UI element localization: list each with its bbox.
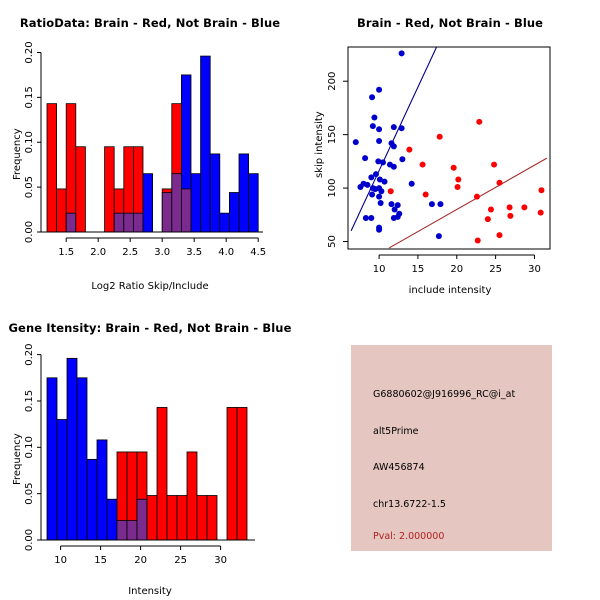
scatter-point [436, 233, 442, 239]
histogram-bar [197, 496, 207, 540]
histogram-bar-overlap [133, 213, 143, 232]
histogram-bar [47, 378, 57, 540]
scatter-point [357, 184, 363, 190]
histogram-bar [57, 420, 67, 540]
y-tick-label: 200 [327, 72, 338, 91]
scatter-point [507, 213, 513, 219]
scatter-point [391, 164, 397, 170]
scatter-panel: Brain - Red, Not Brain - Blue include in… [300, 0, 600, 300]
histogram-bar [87, 459, 97, 540]
histogram-bar [57, 189, 67, 232]
x-tick-label: 1.5 [58, 247, 74, 258]
scatter-title: Brain - Red, Not Brain - Blue [300, 16, 600, 30]
scatter-point [420, 162, 426, 168]
histogram-bar-overlap [137, 499, 147, 540]
scatter-point [378, 200, 384, 206]
x-tick-label: 25 [489, 264, 502, 275]
x-tick-label: 10 [54, 555, 67, 566]
y-tick-label: 0.00 [24, 221, 35, 243]
scatter-point [491, 162, 497, 168]
histogram-bar [239, 154, 249, 232]
y-tick-label: 0.20 [24, 344, 35, 366]
ratio-histogram-ylabel: Frequency [12, 128, 23, 180]
y-tick-label: 0.20 [24, 41, 35, 63]
scatter-point [406, 147, 412, 153]
scatter-point [474, 194, 480, 200]
scatter-point [455, 177, 461, 183]
x-tick-label: 3.0 [154, 247, 170, 258]
histogram-bar [97, 440, 107, 540]
histogram-bar-overlap [162, 193, 172, 232]
histogram-bar [157, 407, 167, 540]
x-tick-label: 3.5 [186, 247, 202, 258]
info-event-type: alt5Prime [373, 426, 418, 437]
scatter-point [389, 201, 395, 207]
y-tick-label: 50 [327, 235, 338, 248]
gene-info-panel: G6880602@J916996_RC@i_at alt5Prime AW456… [300, 300, 600, 600]
y-tick-label: 0.00 [24, 529, 35, 551]
scatter-point [364, 182, 370, 188]
scatter-point [409, 181, 415, 187]
ratio-histogram-title: RatioData: Brain - Red, Not Brain - Blue [0, 16, 300, 30]
x-tick-label: 15 [412, 264, 425, 275]
histogram-bar [220, 213, 230, 232]
x-tick-label: 4.5 [250, 247, 266, 258]
histogram-bar [66, 104, 76, 232]
scatter-point [378, 188, 384, 194]
scatter-xlabel: include intensity [300, 285, 600, 296]
scatter-canvas: 501001502001015202530 [300, 0, 600, 300]
histogram-bar-overlap [172, 174, 182, 232]
x-tick-label: 25 [174, 555, 187, 566]
x-tick-label: 20 [450, 264, 463, 275]
ratio-histogram-xlabel: Log2 Ratio Skip/Include [0, 281, 300, 292]
scatter-point [353, 139, 359, 145]
histogram-bar [167, 496, 177, 540]
gene-histogram-panel: Gene Itensity: Brain - Red, Not Brain - … [0, 300, 300, 600]
info-probe-id: G6880602@J916996_RC@i_at [373, 389, 515, 400]
scatter-point [488, 206, 494, 212]
gene-histogram-title: Gene Itensity: Brain - Red, Not Brain - … [0, 321, 300, 335]
histogram-bar [229, 193, 239, 232]
histogram-bar [147, 496, 157, 540]
histogram-bar [107, 499, 117, 540]
x-tick-label: 4.0 [218, 247, 234, 258]
histogram-bar [237, 407, 247, 540]
scatter-point [475, 237, 481, 243]
scatter-point [429, 201, 435, 207]
ratio-histogram-panel: RatioData: Brain - Red, Not Brain - Blue… [0, 0, 300, 300]
histogram-bar [187, 452, 197, 540]
y-tick-label: 0.10 [24, 131, 35, 153]
y-tick-label: 0.05 [24, 176, 35, 198]
scatter-point [538, 210, 544, 216]
scatter-point [391, 143, 397, 149]
scatter-point [376, 138, 382, 144]
scatter-point [369, 94, 375, 100]
scatter-point [391, 124, 397, 130]
info-pval: Pval: 2.000000 [373, 531, 444, 542]
scatter-point [376, 126, 382, 132]
info-locus: chr13.6722-1.5 [373, 499, 446, 510]
scatter-point [455, 184, 461, 190]
scatter-point [538, 187, 544, 193]
x-tick-label: 15 [94, 555, 107, 566]
scatter-point [368, 174, 374, 180]
gene-histogram-ylabel: Frequency [12, 433, 23, 485]
histogram-bar-overlap [114, 213, 124, 232]
scatter-point [521, 204, 527, 210]
histogram-bar [249, 174, 259, 232]
histogram-bar [67, 358, 77, 540]
gene-histogram-xlabel: Intensity [0, 586, 300, 597]
scatter-point [388, 188, 394, 194]
gene-histogram-canvas: 0.000.050.100.150.201015202530 [0, 300, 300, 600]
histogram-bar-overlap [124, 213, 134, 232]
scatter-point [369, 191, 375, 197]
scatter-point [363, 215, 369, 221]
plot-dashboard: RatioData: Brain - Red, Not Brain - Blue… [0, 0, 600, 600]
scatter-point [370, 123, 376, 129]
histogram-bar [210, 154, 220, 232]
x-tick-label: 20 [134, 555, 147, 566]
scatter-point [399, 125, 405, 131]
scatter-point [437, 201, 443, 207]
scatter-point [395, 214, 401, 220]
histogram-bar [207, 496, 217, 540]
histogram-bar-overlap [127, 521, 137, 540]
y-tick-label: 0.15 [24, 390, 35, 412]
scatter-point [399, 156, 405, 162]
scatter-point [437, 134, 443, 140]
scatter-point [380, 159, 386, 165]
x-tick-label: 30 [214, 555, 227, 566]
histogram-bar [177, 496, 187, 540]
scatter-point [376, 227, 382, 233]
x-tick-label: 30 [528, 264, 541, 275]
scatter-ylabel: skip intensity [314, 111, 325, 178]
scatter-point [497, 180, 503, 186]
ratio-histogram-canvas: 0.000.050.100.150.201.52.02.53.03.54.04.… [0, 0, 300, 300]
scatter-point [507, 204, 513, 210]
scatter-point [476, 119, 482, 125]
histogram-bar [201, 56, 211, 232]
y-tick-label: 0.05 [24, 483, 35, 505]
scatter-point [485, 216, 491, 222]
scatter-point [368, 215, 374, 221]
histogram-bar [105, 147, 115, 232]
histogram-bar [47, 104, 57, 232]
y-tick-label: 150 [327, 125, 338, 144]
scatter-point [376, 87, 382, 93]
y-tick-label: 0.15 [24, 86, 35, 108]
scatter-point [451, 165, 457, 171]
scatter-point [423, 191, 429, 197]
scatter-point [392, 206, 398, 212]
histogram-bar [143, 174, 153, 232]
histogram-bar [77, 378, 87, 540]
x-tick-label: 2.5 [122, 247, 138, 258]
plot-frame [348, 47, 550, 249]
histogram-bar [227, 407, 237, 540]
x-tick-label: 10 [373, 264, 386, 275]
histogram-bar-overlap [117, 521, 127, 540]
scatter-point [399, 50, 405, 56]
y-tick-label: 0.10 [24, 436, 35, 458]
histogram-bar-overlap [181, 189, 191, 232]
gene-info-box: G6880602@J916996_RC@i_at alt5Prime AW456… [351, 345, 552, 551]
x-tick-label: 2.0 [90, 247, 106, 258]
histogram-bar [191, 174, 201, 232]
histogram-bar [76, 147, 86, 232]
y-tick-label: 100 [327, 179, 338, 198]
scatter-point [497, 232, 503, 238]
histogram-bar-overlap [66, 213, 76, 232]
scatter-point [362, 155, 368, 161]
scatter-point [371, 115, 377, 121]
info-accession: AW456874 [373, 462, 425, 473]
scatter-point [382, 179, 388, 185]
scatter-point [376, 194, 382, 200]
